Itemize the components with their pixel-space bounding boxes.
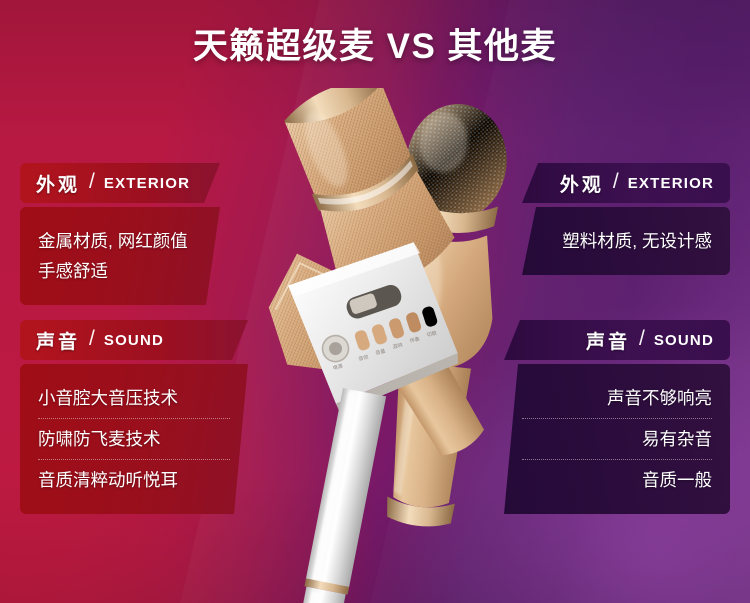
- panel-header-separator: /: [613, 170, 619, 194]
- panel-left-exterior: 外观 / EXTERIOR 金属材质, 网红颜值手感舒适: [20, 163, 220, 305]
- panel-body: 声音不够响亮 易有杂音 音质一般: [504, 364, 730, 514]
- panel-header-cn: 外观: [560, 170, 604, 197]
- panel-row: 塑料材质, 无设计感: [540, 221, 712, 261]
- panel-right-sound: 声音 / SOUND 声音不够响亮 易有杂音 音质一般: [504, 320, 730, 514]
- panel-header: 外观 / EXTERIOR: [522, 163, 730, 203]
- panel-right-exterior: 外观 / EXTERIOR 塑料材质, 无设计感: [522, 163, 730, 275]
- panel-header-separator: /: [639, 327, 645, 351]
- panel-header-en: SOUND: [654, 332, 714, 349]
- panel-row: 金属材质, 网红颜值手感舒适: [38, 221, 202, 291]
- poster-canvas: 天籁超级麦 VS 其他麦: [0, 0, 750, 603]
- panel-row: 音质清粹动听悦耳: [38, 459, 230, 500]
- panel-row: 易有杂音: [522, 418, 712, 459]
- panel-left-sound: 声音 / SOUND 小音腔大音压技术 防啸防飞麦技术 音质清粹动听悦耳: [20, 320, 248, 514]
- panel-body: 金属材质, 网红颜值手感舒适: [20, 207, 220, 305]
- panel-header-en: EXTERIOR: [628, 175, 714, 192]
- panel-header: 声音 / SOUND: [20, 320, 248, 360]
- product-image: 电源 音效 音量 混响 伴奏 切歌: [225, 88, 545, 603]
- page-title: 天籁超级麦 VS 其他麦: [0, 18, 750, 69]
- panel-header-cn: 外观: [36, 170, 80, 197]
- panel-body: 小音腔大音压技术 防啸防飞麦技术 音质清粹动听悦耳: [20, 364, 248, 514]
- panel-body: 塑料材质, 无设计感: [522, 207, 730, 275]
- panel-header-cn: 声音: [36, 327, 80, 354]
- panel-header-en: SOUND: [104, 332, 164, 349]
- panel-header-cn: 声音: [586, 327, 630, 354]
- panel-header-separator: /: [89, 170, 95, 194]
- panel-row: 音质一般: [522, 459, 712, 500]
- panel-row: 声音不够响亮: [522, 378, 712, 418]
- panel-row: 小音腔大音压技术: [38, 378, 230, 418]
- panel-header: 声音 / SOUND: [504, 320, 730, 360]
- panel-row: 防啸防飞麦技术: [38, 418, 230, 459]
- panel-header-en: EXTERIOR: [104, 175, 190, 192]
- panel-header: 外观 / EXTERIOR: [20, 163, 220, 203]
- panel-header-separator: /: [89, 327, 95, 351]
